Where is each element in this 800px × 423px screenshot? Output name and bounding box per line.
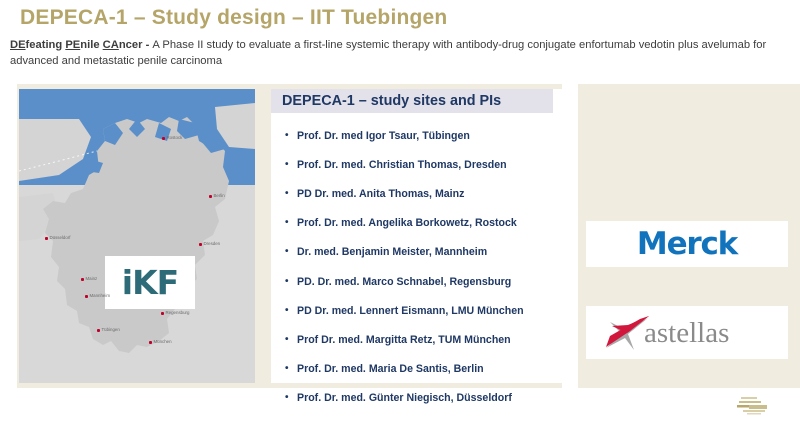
list-item: •Prof Dr. med. Margitta Retz, TUM Münche…: [271, 325, 562, 354]
ikf-logo: iKF: [105, 256, 195, 309]
map-city-mannheim: Mannheim: [85, 294, 110, 299]
subtitle-pe: PE: [65, 39, 80, 51]
list-item-label: Prof. Dr. med. Günter Niegisch, Düsseldo…: [297, 392, 512, 404]
city-marker-icon: [162, 137, 165, 140]
bullet-icon: •: [285, 160, 289, 170]
list-item: •PD. Dr. med. Marco Schnabel, Regensburg: [271, 267, 562, 296]
subtitle-ca: CA: [103, 39, 119, 51]
study-sites-list: •Prof. Dr. med Igor Tsaur, Tübingen •Pro…: [271, 113, 562, 413]
city-marker-icon: [97, 329, 100, 332]
list-item: •PD Dr. med. Anita Thomas, Mainz: [271, 179, 562, 208]
astellas-logo-text: astellas: [644, 314, 729, 352]
map-city-mainz: Mainz: [81, 277, 97, 282]
list-item-label: Prof. Dr. med. Maria De Santis, Berlin: [297, 363, 484, 375]
city-marker-icon: [161, 312, 164, 315]
city-label: Dresden: [204, 241, 221, 246]
page-title: DEPECA-1 – Study design – IIT Tuebingen: [20, 6, 447, 30]
list-item: •PD Dr. med. Lennert Eismann, LMU Münche…: [271, 296, 562, 325]
city-marker-icon: [45, 237, 48, 240]
city-label: Mannheim: [90, 293, 111, 298]
city-label: München: [154, 339, 172, 344]
city-marker-icon: [85, 295, 88, 298]
list-item: •Dr. med. Benjamin Meister, Mannheim: [271, 238, 562, 267]
list-item-label: Prof. Dr. med. Christian Thomas, Dresden: [297, 159, 507, 171]
bullet-icon: •: [285, 218, 289, 228]
map-city-rostock: Rostock: [162, 136, 182, 141]
list-item-label: Prof. Dr. med. Angelika Borkowetz, Rosto…: [297, 217, 517, 229]
bullet-icon: •: [285, 335, 289, 345]
city-marker-icon: [199, 243, 202, 246]
subtitle-feating: feating: [26, 39, 66, 51]
map-city-tuebingen: Tübingen: [97, 328, 120, 333]
subtitle-ncer: ncer: [119, 39, 146, 51]
astellas-logo: astellas: [586, 306, 788, 359]
city-marker-icon: [81, 278, 84, 281]
right-white-margin: [562, 84, 578, 388]
slide-root: DEPECA-1 – Study design – IIT Tuebingen …: [0, 0, 800, 423]
study-sites-header: DEPECA-1 – study sites and PIs: [271, 89, 553, 113]
map-city-regensburg: Regensburg: [161, 311, 189, 316]
map-city-berlin: Berlin: [209, 194, 225, 199]
bullet-icon: •: [285, 277, 289, 287]
list-item-label: Dr. med. Benjamin Meister, Mannheim: [297, 246, 487, 258]
city-label: Düsseldorf: [50, 235, 71, 240]
bullet-icon: •: [285, 364, 289, 374]
bullet-icon: •: [285, 306, 289, 316]
city-marker-icon: [149, 341, 152, 344]
list-item-label: PD Dr. med. Lennert Eismann, LMU München: [297, 305, 524, 317]
study-sites-header-text: DEPECA-1 – study sites and PIs: [282, 93, 501, 109]
list-item-label: Prof Dr. med. Margitta Retz, TUM München: [297, 334, 511, 346]
germany-map: iKF Rostock Berlin Düsseldorf Dresden Ma…: [19, 89, 255, 383]
list-item: •Prof. Dr. med. Angelika Borkowetz, Rost…: [271, 209, 562, 238]
list-item-label: Prof. Dr. med Igor Tsaur, Tübingen: [297, 130, 470, 142]
bullet-icon: •: [285, 131, 289, 141]
city-label: Tübingen: [102, 327, 120, 332]
left-white-margin: [0, 84, 17, 388]
bullet-icon: •: [285, 247, 289, 257]
ikf-logo-text: iKF: [122, 266, 178, 299]
merck-logo-text: Merck: [637, 229, 737, 260]
list-item: •Prof. Dr. med. Maria De Santis, Berlin: [271, 355, 562, 384]
subtitle-nile: nile: [80, 39, 102, 51]
footer-brand-mark-icon: [735, 396, 773, 416]
study-sites-panel: DEPECA-1 – study sites and PIs •Prof. Dr…: [271, 89, 562, 383]
map-city-duesseldorf: Düsseldorf: [45, 236, 71, 241]
map-city-muenchen: München: [149, 340, 172, 345]
map-city-dresden: Dresden: [199, 242, 220, 247]
study-subtitle: DEfeating PEnile CAncer - A Phase II stu…: [10, 38, 792, 69]
city-marker-icon: [209, 195, 212, 198]
list-item: •Prof. Dr. med. Christian Thomas, Dresde…: [271, 150, 562, 179]
list-item-label: PD. Dr. med. Marco Schnabel, Regensburg: [297, 276, 511, 288]
bullet-icon: •: [285, 393, 289, 403]
subtitle-de: DE: [10, 39, 26, 51]
list-item: •Prof. Dr. med. Günter Niegisch, Düsseld…: [271, 384, 562, 413]
merck-logo: Merck: [586, 221, 788, 267]
city-label: Regensburg: [166, 310, 190, 315]
list-item: •Prof. Dr. med Igor Tsaur, Tübingen: [271, 121, 562, 150]
city-label: Berlin: [214, 193, 225, 198]
city-label: Mainz: [86, 276, 98, 281]
list-item-label: PD Dr. med. Anita Thomas, Mainz: [297, 188, 464, 200]
bullet-icon: •: [285, 189, 289, 199]
city-label: Rostock: [167, 135, 183, 140]
